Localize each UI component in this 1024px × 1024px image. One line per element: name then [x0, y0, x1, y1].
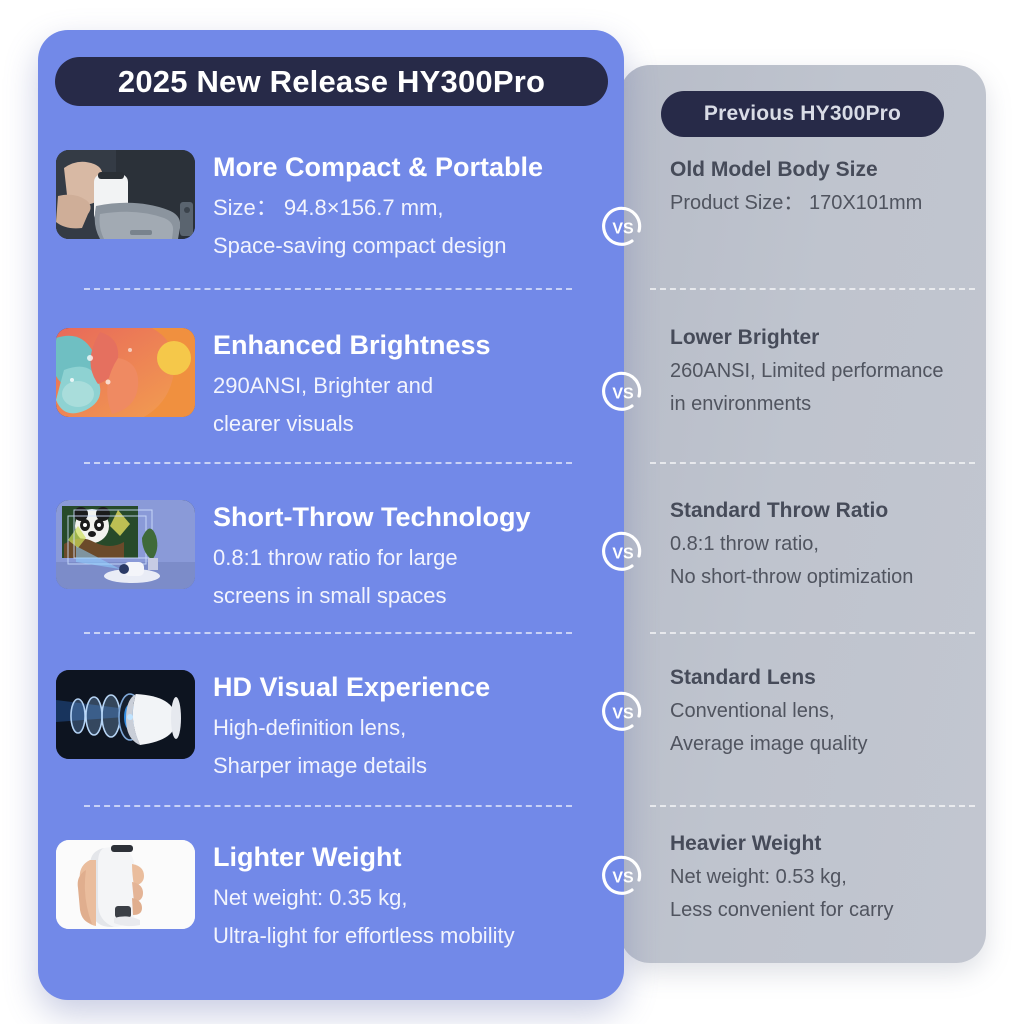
row-divider	[84, 462, 572, 464]
vs-badge-icon: VS	[599, 852, 647, 900]
feature-line-1: Size： 94.8×156.7 mm,	[213, 189, 543, 227]
legacy-line-2: in environments	[670, 388, 975, 421]
legacy-line-1: Conventional lens,	[670, 695, 975, 728]
legacy-row-divider	[650, 288, 975, 290]
feature-title: Lighter Weight	[213, 841, 515, 873]
legacy-line-1: Product Size： 170X101mm	[670, 187, 975, 220]
legacy-row-divider	[650, 462, 975, 464]
feature-text-block: Lighter Weight Net weight: 0.35 kg, Ultr…	[213, 840, 515, 955]
legacy-title: Lower Brighter	[670, 325, 975, 351]
feature-text-block: HD Visual Experience High-definition len…	[213, 670, 490, 785]
feature-line-2: Ultra-light for effortless mobility	[213, 917, 515, 955]
vs-badge-label: VS	[612, 386, 634, 403]
panda-projection-room-thumbnail	[56, 500, 195, 589]
new-model-badge: 2025 New Release HY300Pro	[55, 57, 608, 106]
legacy-line-1: 0.8:1 throw ratio,	[670, 528, 975, 561]
feature-line-1: Net weight: 0.35 kg,	[213, 879, 515, 917]
row-divider	[84, 288, 572, 290]
new-model-badge-label: 2025 New Release HY300Pro	[118, 64, 545, 100]
vs-badge-label: VS	[612, 870, 634, 887]
feature-line-1: High-definition lens,	[213, 709, 490, 747]
legacy-title: Standard Throw Ratio	[670, 498, 975, 524]
vs-badge-icon: VS	[599, 528, 647, 576]
feature-line-1: 290ANSI, Brighter and	[213, 367, 491, 405]
feature-row: Lighter Weight Net weight: 0.35 kg, Ultr…	[56, 840, 596, 955]
colorful-flower-render-thumbnail	[56, 328, 195, 417]
legacy-line-2: Average image quality	[670, 728, 975, 761]
feature-line-2: Space-saving compact design	[213, 227, 543, 265]
legacy-line-2: No short-throw optimization	[670, 561, 975, 594]
legacy-row: Heavier Weight Net weight: 0.53 kg, Less…	[670, 831, 975, 927]
vs-badge-label: VS	[612, 221, 634, 238]
feature-row: More Compact & Portable Size： 94.8×156.7…	[56, 150, 596, 265]
row-divider	[84, 632, 572, 634]
feature-text-block: More Compact & Portable Size： 94.8×156.7…	[213, 150, 543, 265]
previous-model-badge: Previous HY300Pro	[661, 91, 944, 137]
feature-row: HD Visual Experience High-definition len…	[56, 670, 596, 785]
feature-title: More Compact & Portable	[213, 151, 543, 183]
vs-badge-icon: VS	[599, 688, 647, 736]
legacy-line-1: Net weight: 0.53 kg,	[670, 861, 975, 894]
legacy-title: Old Model Body Size	[670, 157, 975, 183]
exploded-lens-assembly-thumbnail	[56, 670, 195, 759]
vs-badge-icon: VS	[599, 368, 647, 416]
feature-text-block: Enhanced Brightness 290ANSI, Brighter an…	[213, 328, 491, 443]
hand-holding-projector-thumbnail	[56, 840, 195, 929]
feature-line-2: clearer visuals	[213, 405, 491, 443]
legacy-row: Lower Brighter 260ANSI, Limited performa…	[670, 325, 975, 421]
legacy-line-2: Less convenient for carry	[670, 894, 975, 927]
legacy-row: Old Model Body Size Product Size： 170X10…	[670, 157, 975, 220]
feature-line-1: 0.8:1 throw ratio for large	[213, 539, 530, 577]
legacy-title: Standard Lens	[670, 665, 975, 691]
feature-row: Enhanced Brightness 290ANSI, Brighter an…	[56, 328, 596, 443]
comparison-infographic: 2025 New Release HY300Pro Previous HY300…	[0, 0, 1024, 1024]
feature-title: Enhanced Brightness	[213, 329, 491, 361]
row-divider	[84, 805, 572, 807]
vs-badge-icon: VS	[599, 203, 647, 251]
feature-text-block: Short-Throw Technology 0.8:1 throw ratio…	[213, 500, 530, 615]
feature-title: Short-Throw Technology	[213, 501, 530, 533]
feature-line-2: screens in small spaces	[213, 577, 530, 615]
legacy-row-divider	[650, 632, 975, 634]
legacy-title: Heavier Weight	[670, 831, 975, 857]
vs-badge-label: VS	[612, 546, 634, 563]
previous-model-badge-label: Previous HY300Pro	[704, 102, 901, 126]
feature-row: Short-Throw Technology 0.8:1 throw ratio…	[56, 500, 596, 615]
vs-badge-label: VS	[612, 706, 634, 723]
legacy-row-divider	[650, 805, 975, 807]
projector-in-backpack-thumbnail	[56, 150, 195, 239]
legacy-line-1: 260ANSI, Limited performance	[670, 355, 975, 388]
feature-title: HD Visual Experience	[213, 671, 490, 703]
legacy-row: Standard Lens Conventional lens, Average…	[670, 665, 975, 761]
feature-line-2: Sharper image details	[213, 747, 490, 785]
legacy-row: Standard Throw Ratio 0.8:1 throw ratio, …	[670, 498, 975, 594]
